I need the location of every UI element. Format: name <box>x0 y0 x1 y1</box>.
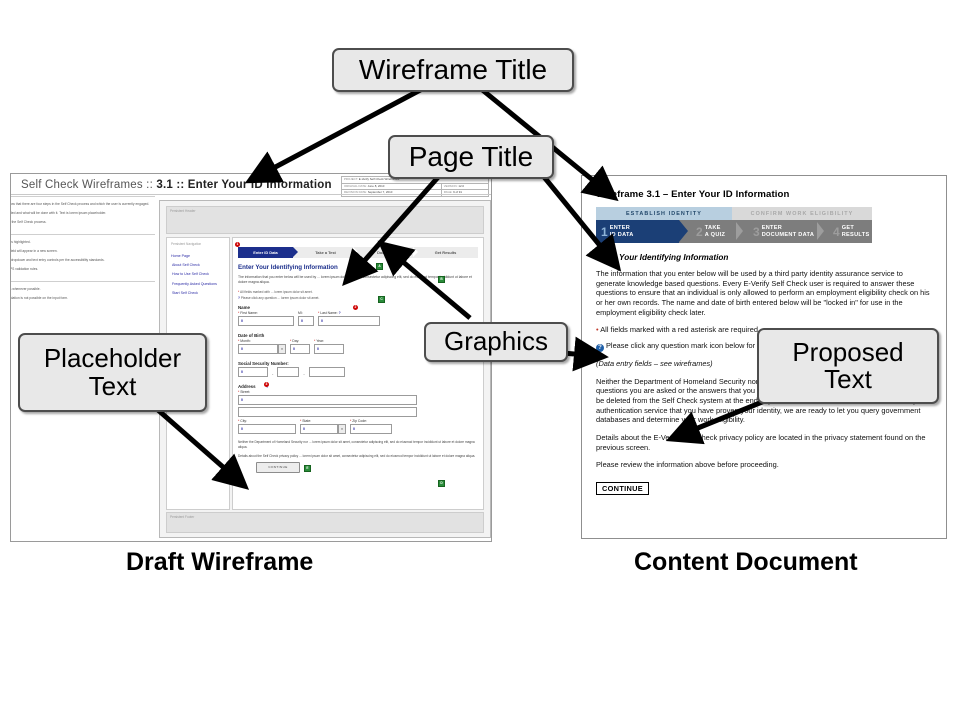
tab-take-a-test[interactable]: Take a Test <box>298 247 353 258</box>
annotation-marker-a-icon: A <box>376 263 383 270</box>
nav-item-frequently-asked-questions[interactable]: Frequently Asked Questions <box>167 280 229 289</box>
step-line2: A QUIZ <box>705 232 726 238</box>
label-last-name-text: Last Name: <box>320 311 337 315</box>
label-first-name: * First Name: <box>238 311 294 315</box>
persistent-footer: Persistent Footer <box>166 512 484 533</box>
label-first-name-text: First Name: <box>240 311 258 315</box>
progress-band-establish-identity: ESTABLISH IDENTITY <box>596 207 732 220</box>
dropdown-state-icon[interactable]: ▾ <box>338 424 346 434</box>
content-document-heading: Enter Your Identifying Information <box>596 253 932 262</box>
form-legal-2: Details about the Self Check privacy pol… <box>238 454 478 459</box>
tab-label: Enter ID Data <box>253 250 277 255</box>
tab-label: Doc Data <box>377 250 394 255</box>
step-number: 3 <box>748 226 762 238</box>
annotation-note: State uses a dropdown list with USPS val… <box>10 267 151 272</box>
label-last-name: * Last Name: ? <box>318 311 380 315</box>
meta-key: ORIGINAL DATE: <box>344 184 367 188</box>
input-street-line2[interactable] <box>238 407 417 417</box>
form-note-asterisk-label: All fields marked with ... lorem ipsum d… <box>240 290 313 294</box>
label-year: * Year: <box>314 339 344 343</box>
meta-value: June 8, 2010 <box>368 184 385 188</box>
form-row-ssn: 0 - - <box>238 367 478 379</box>
label-city-text: City: <box>240 419 247 423</box>
slide-canvas: Wireframe Title Page Title Graphics Plac… <box>0 0 960 720</box>
caption-draft-wireframe: Draft Wireframe <box>126 548 313 577</box>
wireframe-form: A Enter Your Identifying Information B T… <box>238 264 478 507</box>
input-zip[interactable]: 0 <box>350 424 392 434</box>
input-ssn-part3[interactable] <box>309 367 345 377</box>
form-group-address: Address 3 ? <box>238 384 478 389</box>
input-ssn-part1[interactable]: 0 <box>238 367 268 377</box>
tab-enter-id-data[interactable]: Enter ID Data <box>238 247 293 258</box>
input-day[interactable]: 0 <box>290 344 310 354</box>
caption-content-document: Content Document <box>634 548 858 577</box>
content-continue-button[interactable]: CONTINUE <box>596 482 649 495</box>
wireframe-content-area: 1 Enter ID Data Take a Test Doc Data Get… <box>232 237 484 510</box>
form-heading: Enter Your Identifying Information <box>238 264 478 271</box>
input-mi[interactable]: 0 <box>298 316 314 326</box>
step-number: 4 <box>828 226 842 238</box>
annotation-note: Month, Day and Year use separate dropdow… <box>10 258 151 263</box>
progress-step-enter-id-data[interactable]: 1 ENTERID DATA <box>596 220 679 243</box>
tab-label: Take a Test <box>315 250 336 255</box>
callout-proposed-line2: Text <box>824 366 872 393</box>
label-state-text: State: <box>302 419 311 423</box>
meta-key: PROJECT: <box>344 177 358 181</box>
annotation-note: Error messaging appears when validation … <box>10 296 151 301</box>
step-line2: RESULTS <box>842 232 870 238</box>
input-year[interactable]: 0 <box>314 344 344 354</box>
callout-proposed-line1: Proposed <box>792 339 903 366</box>
step-number: 1 <box>596 226 610 238</box>
progress-band-confirm-work-eligibility: CONFIRM WORK ELIGIBILITY <box>732 207 872 220</box>
input-state[interactable]: 0 <box>300 424 338 434</box>
annotation-marker-b-icon: B <box>438 276 445 283</box>
form-note-asterisk: * All fields marked with ... lorem ipsum… <box>238 290 478 294</box>
persistent-header: Persistent Header <box>166 206 484 234</box>
annotation-note: Inline error validation for the name fie… <box>10 249 151 254</box>
step-line1: GET <box>842 225 854 231</box>
progress-step-take-a-quiz[interactable]: 2 TAKEA QUIZ <box>691 220 725 243</box>
dropdown-month-icon[interactable]: ▾ <box>278 344 286 354</box>
step-line1: ENTER <box>762 225 782 231</box>
step-line2: ID DATA <box>610 232 634 238</box>
annotation-note: Persistent progress indicator will show … <box>10 202 151 207</box>
wireframe-doc-header: Self Check Wireframes :: 3.1 :: Enter Yo… <box>21 179 332 191</box>
meta-cell: ORIGINAL DATE: June 8, 2010 <box>342 183 442 190</box>
content-paragraph-3: Details about the E-Verify Self Check pr… <box>596 433 932 452</box>
wireframe-doc-header-bold: 3.1 :: Enter Your ID Information <box>156 179 331 191</box>
form-legal-1: Neither the Department of Homeland Secur… <box>238 440 478 450</box>
tab-doc-data[interactable]: Doc Data <box>358 247 413 258</box>
nav-item-how-to-use-self-check[interactable]: How to Use Self Check <box>167 270 229 279</box>
persistent-footer-label: Persistent Footer <box>167 513 483 521</box>
wireframe-doc-header-prefix: Self Check Wireframes :: <box>21 179 156 191</box>
label-day-text: Day: <box>292 339 299 343</box>
input-ssn-part2[interactable] <box>277 367 299 377</box>
callout-proposed-text[interactable]: Proposed Text <box>757 328 939 404</box>
label-day: * Day: <box>290 339 310 343</box>
progress-graphic: ESTABLISH IDENTITY CONFIRM WORK ELIGIBIL… <box>596 207 872 243</box>
step-line1: TAKE <box>705 225 721 231</box>
label-month: * Month: <box>238 339 286 343</box>
input-street-line1[interactable]: 0 <box>238 395 417 405</box>
nav-item-start-self-check[interactable]: Start Self Check <box>167 289 229 298</box>
annotation-note: Use inline hint text inside text boxes w… <box>10 287 151 292</box>
nav-item-about-self-check[interactable]: About Self Check <box>167 261 229 270</box>
content-paragraph-1: The information that you enter below wil… <box>596 269 932 317</box>
meta-key: VERSION: <box>444 184 458 188</box>
form-note-question: ? Please click any question ... lorem ip… <box>238 296 478 300</box>
content-document-title: Wireframe 3.1 – Enter Your ID Informatio… <box>596 189 932 200</box>
annotation-marker-d-icon: D <box>438 480 445 487</box>
step-divider-icon <box>817 222 824 240</box>
persistent-navigation-label: Persistent Navigation <box>167 238 229 252</box>
continue-button[interactable]: CONTINUE <box>256 462 300 473</box>
annotation-marker-4-icon: 4 <box>234 465 239 470</box>
step-arrow-icon <box>679 220 688 242</box>
tab-label: Get Results <box>435 250 457 255</box>
progress-step-enter-document-data[interactable]: 3 ENTERDOCUMENT DATA <box>748 220 814 243</box>
question-mark-icon: ? <box>596 344 604 352</box>
annotation-note: Page heading explains what is needed and… <box>10 211 151 216</box>
form-row-city-state-zip: * City: 0 * State: 0▾ * Zip Code: 0 <box>238 419 478 436</box>
label-city: * City: <box>238 419 296 423</box>
callout-page-title-label: Page Title <box>409 142 534 171</box>
progress-tabs: Enter ID Data Take a Test Doc Data Get R… <box>238 247 478 258</box>
label-year-text: Year: <box>316 339 324 343</box>
label-zip: * Zip Code: <box>350 419 392 423</box>
form-note-question-label: Please click any question ... lorem ipsu… <box>241 296 319 300</box>
persistent-header-label: Persistent Header <box>167 207 483 215</box>
tab-get-results[interactable]: Get Results <box>418 247 473 258</box>
label-street: * Street: <box>238 390 478 394</box>
annotation-marker-c-icon: C <box>378 296 385 303</box>
wireframe-browser-mock: Persistent Header Persistent Navigation … <box>159 200 491 538</box>
callout-wireframe-title-label: Wireframe Title <box>359 55 547 84</box>
label-zip-text: Zip Code: <box>352 419 367 423</box>
label-state: * State: <box>300 419 346 423</box>
input-city[interactable]: 0 <box>238 424 296 434</box>
callout-graphics-label: Graphics <box>444 328 548 355</box>
content-paragraph-4: Please review the information above befo… <box>596 460 932 470</box>
label-mi: MI: <box>298 311 314 315</box>
annotation-note: Continue button is used to continue the … <box>10 220 151 225</box>
annotation-group: Active step in the progress graphic is h… <box>10 234 155 281</box>
annotation-group: Persistent progress indicator will show … <box>10 196 155 234</box>
step-line2: DOCUMENT DATA <box>762 232 814 238</box>
annotation-note: Active step in the progress graphic is h… <box>10 240 151 245</box>
step-divider-icon <box>736 222 743 240</box>
progress-step-get-results[interactable]: 4 GETRESULTS <box>828 220 869 243</box>
callout-graphics[interactable]: Graphics <box>424 322 568 362</box>
callout-page-title[interactable]: Page Title <box>388 135 554 179</box>
content-bullet-asterisk-label: All fields marked with a red asterisk ar… <box>600 325 760 334</box>
callout-placeholder-text[interactable]: Placeholder Text <box>18 333 207 412</box>
label-month-text: Month: <box>240 339 250 343</box>
input-first-name[interactable]: 0 <box>238 316 294 326</box>
nav-item-home-page[interactable]: Home Page <box>167 252 229 261</box>
required-asterisk-icon: • <box>596 325 599 334</box>
input-last-name[interactable]: 0 <box>318 316 380 326</box>
meta-cell: VERSION: 12.0 <box>441 183 488 190</box>
table-row: ORIGINAL DATE: June 8, 2010 VERSION: 12.… <box>342 183 489 190</box>
annotation-marker-e-icon: E <box>304 465 311 472</box>
step-line1: ENTER <box>610 225 630 231</box>
meta-value: 12.0 <box>458 184 464 188</box>
label-street-text: Street: <box>240 390 250 394</box>
step-number: 2 <box>691 226 705 238</box>
callout-placeholder-line1: Placeholder <box>44 345 181 372</box>
annotation-group: Use inline hint text inside text boxes w… <box>10 281 155 310</box>
callout-wireframe-title[interactable]: Wireframe Title <box>332 48 574 92</box>
form-group-name: Name <box>238 305 478 310</box>
form-group-address-label: Address <box>238 384 256 389</box>
callout-placeholder-line2: Text <box>89 373 137 400</box>
input-month[interactable]: 0 <box>238 344 278 354</box>
wireframe-annotation-column: Persistent progress indicator will show … <box>10 196 155 309</box>
